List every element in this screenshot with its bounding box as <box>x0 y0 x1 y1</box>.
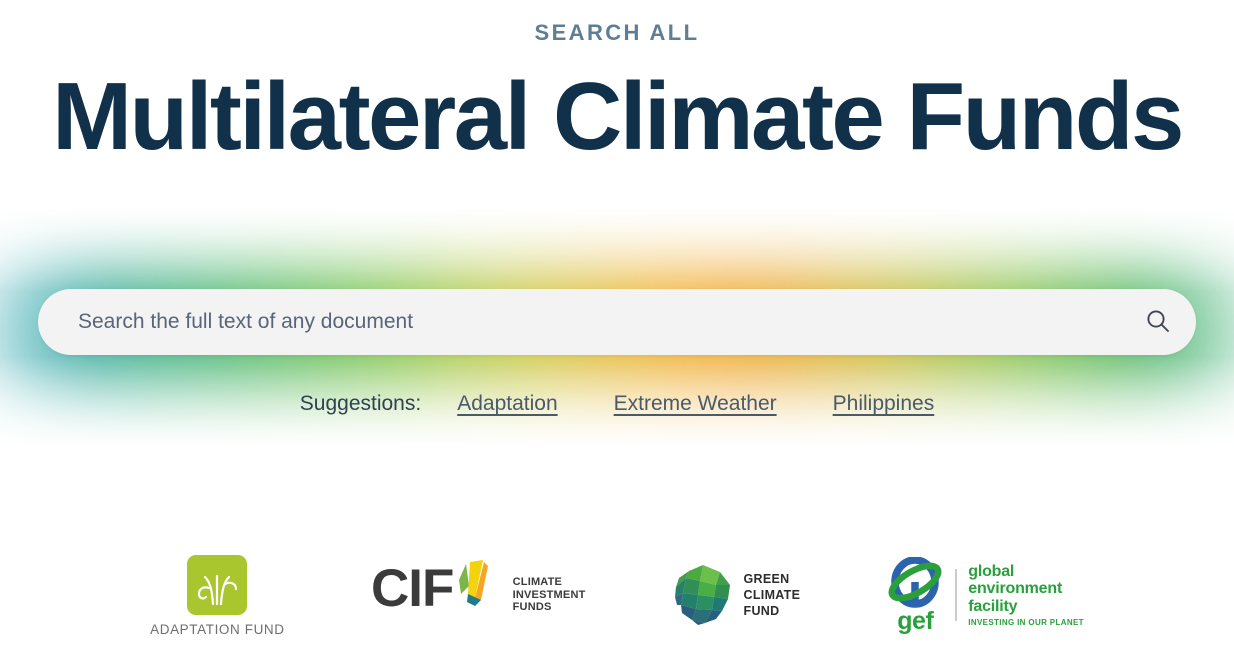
cif-line-3: FUNDS <box>513 601 586 614</box>
cif-subtitle: CLIMATE INVESTMENT FUNDS <box>513 576 586 614</box>
suggestions-row: Suggestions: Adaptation Extreme Weather … <box>0 392 1234 416</box>
gcf-line-2: CLIMATE <box>744 587 801 603</box>
logo-green-climate-fund[interactable]: GREEN CLIMATE FUND <box>672 563 801 627</box>
gef-line-3: facility <box>968 598 1084 616</box>
gef-line-1: global <box>968 563 1084 581</box>
gef-globe-icon <box>886 557 944 611</box>
search-submit-button[interactable] <box>1120 289 1196 355</box>
gef-line-2: environment <box>968 580 1084 598</box>
glow-fade-top <box>0 196 1234 292</box>
gef-wordmark: global environment facility INVESTING IN… <box>968 563 1084 628</box>
search-bar[interactable] <box>38 289 1196 355</box>
svg-text:CIF: CIF <box>371 559 453 618</box>
search-all-landing-page: SEARCH ALL Multilateral Climate Funds Su… <box>0 0 1234 661</box>
search-icon <box>1143 307 1173 337</box>
cif-line-1: CLIMATE <box>513 576 586 589</box>
suggestions-label: Suggestions: <box>300 392 421 416</box>
gef-mark-group: gef <box>886 557 944 633</box>
logo-global-environment-facility[interactable]: gef global environment facility INVESTIN… <box>886 557 1084 633</box>
adaptation-fund-label: ADAPTATION FUND <box>150 622 285 637</box>
gef-acronym: gef <box>897 609 933 633</box>
cif-icon: CIF <box>371 556 513 634</box>
gef-tagline: INVESTING IN OUR PLANET <box>968 618 1084 627</box>
gcf-wordmark: GREEN CLIMATE FUND <box>744 571 801 619</box>
logo-adaptation-fund[interactable]: ADAPTATION FUND <box>150 554 285 637</box>
logo-climate-investment-funds[interactable]: CIF CLIMATE INVESTMENT FUNDS <box>371 556 586 634</box>
adaptation-fund-icon <box>186 554 248 616</box>
page-eyebrow: SEARCH ALL <box>0 18 1234 48</box>
gef-divider <box>955 569 957 621</box>
cif-line-2: INVESTMENT <box>513 589 586 602</box>
suggestion-link-adaptation[interactable]: Adaptation <box>457 392 557 416</box>
green-climate-fund-icon <box>672 563 734 627</box>
gcf-line-3: FUND <box>744 603 801 619</box>
search-input[interactable] <box>38 290 1120 354</box>
partner-logos-row: ADAPTATION FUND CIF CLIMATE INVESTMENT F… <box>0 540 1234 650</box>
page-title: Multilateral Climate Funds <box>0 62 1234 172</box>
suggestion-link-philippines[interactable]: Philippines <box>833 392 935 416</box>
gcf-line-1: GREEN <box>744 571 801 587</box>
suggestion-link-extreme-weather[interactable]: Extreme Weather <box>614 392 777 416</box>
